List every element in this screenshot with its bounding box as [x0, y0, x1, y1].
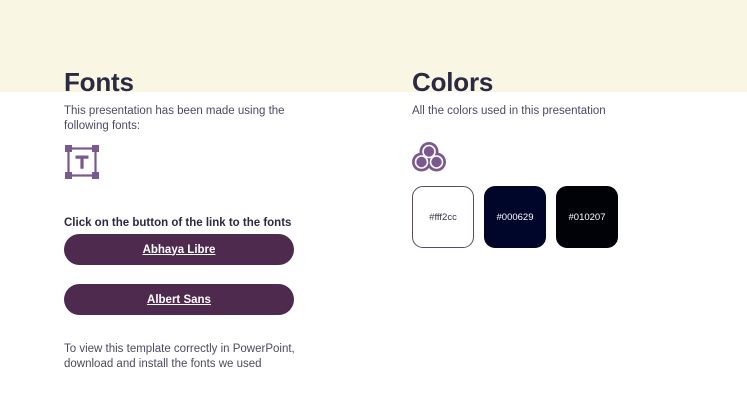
fonts-footer-note: To view this template correctly in Power… [64, 342, 324, 372]
color-swatch-fff2cc[interactable]: #fff2cc [412, 186, 474, 248]
page-title-colors: Colors [412, 69, 493, 95]
color-swatch-010207[interactable]: #010207 [556, 186, 618, 248]
color-palette-venn-icon [412, 140, 446, 174]
font-link-button-abhaya-libre[interactable]: Abhaya Libre [64, 234, 294, 265]
color-swatch-row: #fff2cc #000629 #010207 [412, 186, 618, 248]
text-format-icon [64, 144, 100, 180]
color-swatch-000629[interactable]: #000629 [484, 186, 546, 248]
colors-intro-text: All the colors used in this presentation [412, 104, 672, 119]
click-prompt-label: Click on the button of the link to the f… [64, 217, 291, 229]
page-title-fonts: Fonts [64, 69, 134, 95]
fonts-intro-text: This presentation has been made using th… [64, 104, 314, 134]
font-link-button-albert-sans[interactable]: Albert Sans [64, 284, 294, 315]
